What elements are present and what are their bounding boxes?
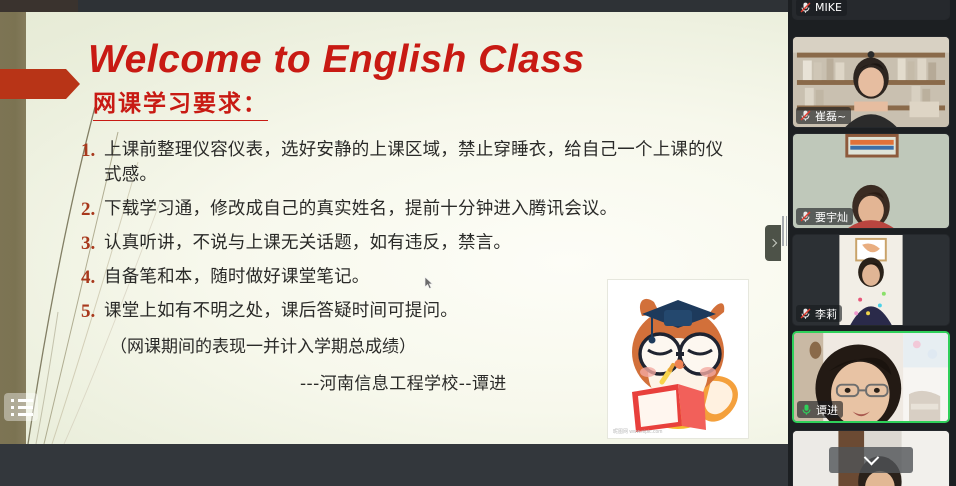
list-item-text: 上课前整理仪容仪表，选好安静的上课区域，禁止穿睡衣，给自己一个上课的仪式感。 (104, 138, 728, 188)
grip-line (786, 216, 788, 246)
mic-muted-icon (799, 109, 812, 122)
participant-name-chip: 要宇灿 (796, 208, 853, 225)
participant-tile-active-speaker[interactable]: 谭进 (792, 331, 950, 423)
participant-name-chip: MIKE (796, 0, 847, 16)
slide-note: （网课期间的表现一并计入学期总成绩） (110, 332, 416, 357)
list-item-number: 4. (78, 265, 104, 290)
bottom-toolbar (0, 444, 788, 486)
scroll-down-button[interactable] (829, 447, 913, 473)
list-item: 1. 上课前整理仪容仪表，选好安静的上课区域，禁止穿睡衣，给自己一个上课的仪式感… (78, 138, 728, 188)
list-item-number: 5. (78, 299, 104, 324)
participant-tile[interactable]: 要宇灿 (792, 133, 950, 229)
participant-name-chip: 崔磊~ (796, 107, 851, 124)
list-icon-dot (11, 406, 14, 409)
list-icon-row (11, 413, 38, 416)
list-item-text: 下载学习通，修改成自己的真实姓名，提前十分钟进入腾讯会议。 (104, 197, 728, 222)
list-item-number: 3. (78, 231, 104, 256)
chevron-down-icon (863, 449, 879, 465)
meeting-window: Welcome to English Class 网课学习要求： 1. 上课前整… (0, 0, 956, 486)
list-item: 2. 下载学习通，修改成自己的真实姓名，提前十分钟进入腾讯会议。 (78, 197, 728, 222)
mouse-cursor (424, 276, 434, 290)
top-toolbar-left-segment (0, 0, 78, 12)
mic-muted-icon (799, 307, 812, 320)
image-credit: 昵图网 www.nipic.com (613, 428, 662, 435)
list-item-number: 1. (78, 138, 104, 163)
list-view-button[interactable] (4, 393, 38, 421)
list-icon-row (11, 406, 38, 409)
participant-name-chip: 李莉 (796, 305, 842, 322)
participant-name-chip: 谭进 (797, 401, 843, 418)
banner-body (0, 69, 66, 99)
participant-name: MIKE (815, 1, 842, 14)
list-icon-row (11, 399, 38, 402)
list-icon-bar (18, 406, 33, 409)
participant-tile[interactable]: MIKE (792, 0, 950, 20)
participant-name: 要宇灿 (815, 209, 848, 225)
grip-line (782, 216, 784, 246)
owl-illustration-svg (608, 280, 749, 439)
mic-muted-icon (799, 210, 812, 223)
participant-name: 崔磊~ (815, 108, 846, 124)
shared-screen-area[interactable]: Welcome to English Class 网课学习要求： 1. 上课前整… (0, 12, 788, 444)
mic-muted-icon (799, 1, 812, 14)
participant-name: 李莉 (815, 306, 837, 322)
list-item-text: 认真听讲，不说与上课无关话题，如有违反，禁言。 (104, 231, 728, 256)
banner-arrow-tip (66, 69, 80, 99)
participant-tile[interactable]: 李莉 (792, 234, 950, 326)
list-icon-dot (11, 413, 14, 416)
owl-student-illustration: 昵图网 www.nipic.com (607, 279, 749, 439)
slide-subtitle: 网课学习要求： (93, 84, 268, 121)
participant-tile[interactable]: 崔磊~ (792, 36, 950, 128)
slide-title: Welcome to English Class (88, 38, 728, 82)
mic-active-icon (800, 403, 813, 416)
participant-sidebar[interactable]: MIKE (788, 0, 956, 486)
list-item-number: 2. (78, 197, 104, 222)
collapse-sidebar-button[interactable] (765, 225, 781, 261)
participant-name: 谭进 (816, 402, 838, 418)
presentation-slide: Welcome to English Class 网课学习要求： 1. 上课前整… (0, 12, 788, 444)
slide-signature: ---河南信息工程学校--谭进 (300, 369, 507, 394)
list-item: 3. 认真听讲，不说与上课无关话题，如有违反，禁言。 (78, 231, 728, 256)
list-icon-dot (11, 399, 14, 402)
chevron-right-icon (769, 239, 777, 247)
list-icon-bar (18, 399, 33, 402)
slide-banner-arrow (0, 69, 80, 99)
list-icon-bar (18, 413, 33, 416)
